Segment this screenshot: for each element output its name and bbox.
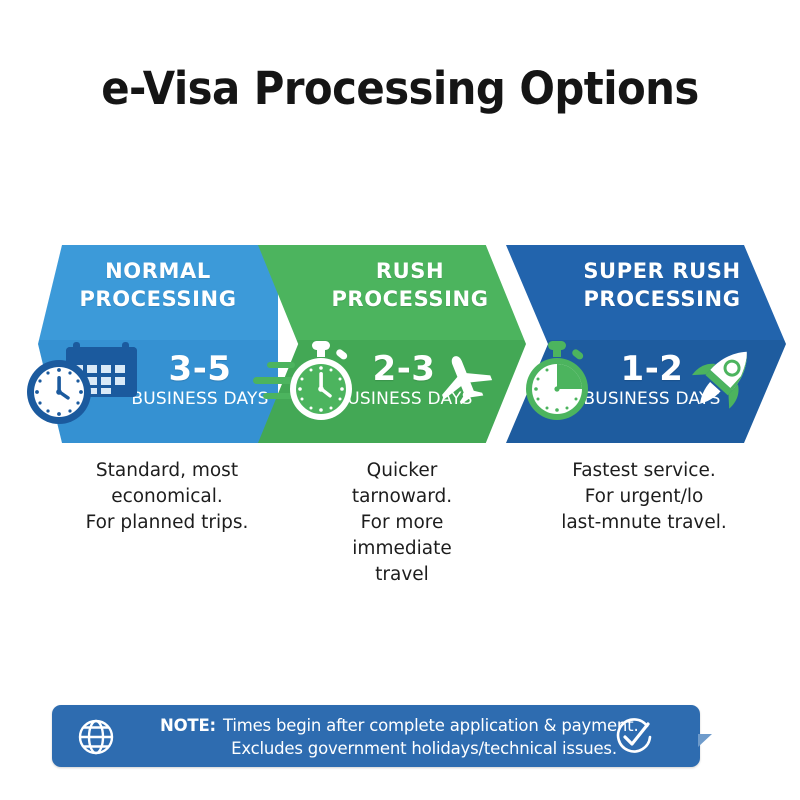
note-label: NOTE:: [160, 716, 216, 735]
option-caption-super-rush: Fastest service. For urgent/lo last-mnut…: [538, 458, 750, 536]
option-card-rush[interactable]: RUSH PROCESSING 2-3 BUSINESS DAYS: [258, 245, 526, 443]
caption-line: Standard, most: [96, 460, 238, 481]
note-line-2: Excludes government holidays/technical i…: [160, 737, 660, 760]
caption-line: For urgent/lo: [585, 486, 704, 507]
page-title: e-Visa Processing Options: [28, 62, 772, 115]
note-bar: NOTE:Times begin after complete applicat…: [52, 705, 700, 767]
clock-icon: [24, 357, 94, 432]
caption-line: last-mnute travel.: [561, 512, 727, 533]
caption-line: economical.: [111, 486, 223, 507]
option-caption-normal: Standard, most economical. For planned t…: [62, 458, 272, 536]
check-circle-icon: [614, 717, 654, 762]
note-text: NOTE:Times begin after complete applicat…: [160, 714, 660, 760]
caption-line: Quicker: [367, 460, 438, 481]
note-line1-text: Times begin after complete application &…: [223, 716, 639, 735]
caption-line: tarnoward.: [352, 486, 452, 507]
globe-icon: [77, 718, 115, 761]
caption-line: travel: [375, 564, 429, 585]
caption-line: For more: [361, 512, 444, 533]
caption-line: For planned trips.: [86, 512, 249, 533]
note-bar-tail: [698, 734, 712, 747]
note-line-1: NOTE:Times begin after complete applicat…: [160, 714, 660, 737]
option-caption-rush: Quicker tarnoward. For more immediate tr…: [322, 458, 482, 588]
rocket-icon: [684, 337, 764, 422]
caption-line: Fastest service.: [572, 460, 715, 481]
processing-options-band: NORMAL PROCESSING 3-5 BUSINESS DAYS: [0, 245, 800, 443]
option-card-normal[interactable]: NORMAL PROCESSING 3-5 BUSINESS DAYS: [38, 245, 278, 443]
stopwatch-icon: [282, 341, 360, 428]
airplane-icon: [436, 350, 494, 409]
option-card-super-rush[interactable]: SUPER RUSH PROCESSING 1-2 BUSINESS DAYS: [506, 245, 786, 443]
caption-line: immediate: [352, 538, 451, 559]
stopwatch-icon: [518, 341, 596, 428]
